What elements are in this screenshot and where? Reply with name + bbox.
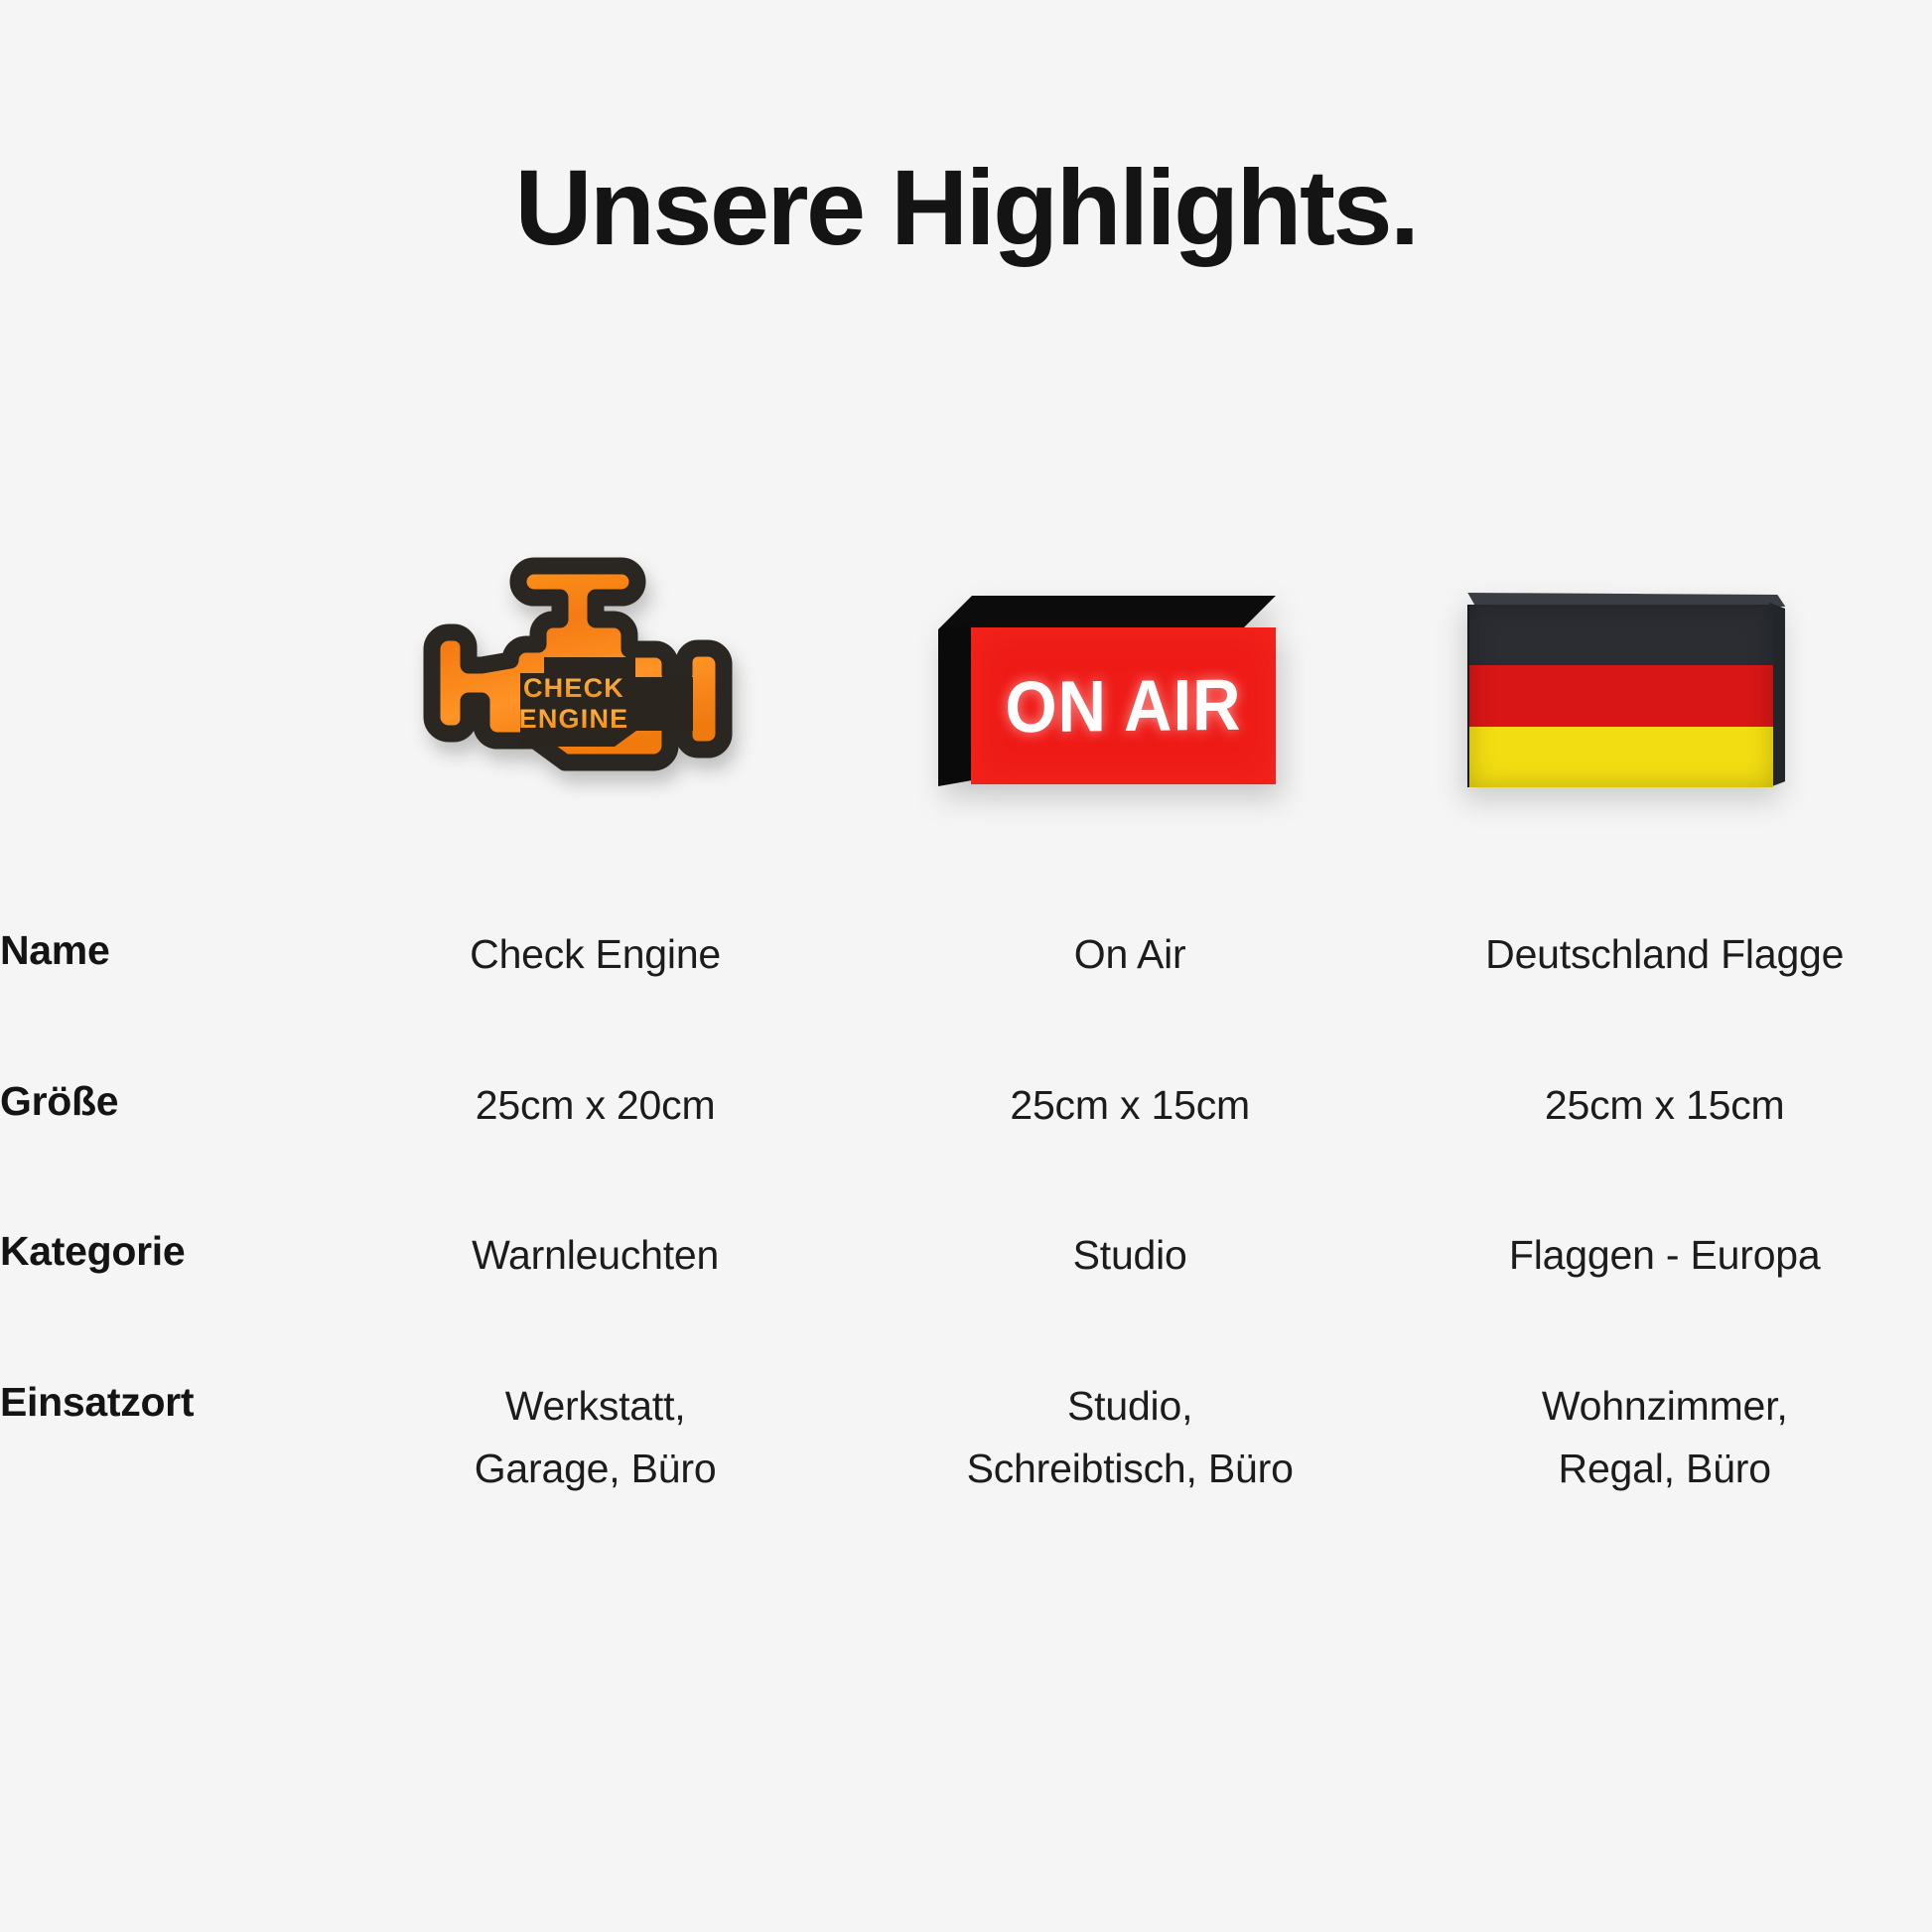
cell-einsatzort-deutschland-flagge: Wohnzimmer, Regal, Büro [1397,1375,1932,1501]
product-image-row: CHECK ENGINE ON AIR [328,526,1886,854]
table-row: Einsatzort Werkstatt, Garage, Büro Studi… [0,1375,1932,1501]
flag-front-face [1467,605,1773,787]
highlights-page: Unsere Highlights. [0,0,1932,1932]
table-row: Name Check Engine On Air Deutschland Fla… [0,923,1932,987]
cell-line: Deutschland Flagge [1397,923,1932,987]
row-label-einsatzort: Einsatzort [0,1375,328,1501]
table-row: Größe 25cm x 20cm 25cm x 15cm 25cm x 15c… [0,1074,1932,1138]
cell-line: Schreibtisch, Büro [863,1438,1398,1501]
table-row: Kategorie Warnleuchten Studio Flaggen - … [0,1224,1932,1288]
deutschland-flagge-lightbox [1438,566,1815,814]
cell-line: Regal, Büro [1397,1438,1932,1501]
row-spacer [0,987,1932,1074]
on-air-lightbox: ON AIR [918,566,1296,814]
row-spacer [0,1288,1932,1375]
cell-name-deutschland-flagge: Deutschland Flagge [1397,923,1932,987]
check-engine-icon: CHECK ENGINE [389,546,786,834]
cell-einsatzort-on-air: Studio, Schreibtisch, Büro [863,1375,1398,1501]
cell-line: Flaggen - Europa [1397,1224,1932,1288]
cell-line: 25cm x 15cm [1397,1074,1932,1138]
on-air-top-face [938,596,1276,629]
cell-name-check-engine: Check Engine [328,923,863,987]
svg-text:CHECK: CHECK [523,673,624,703]
flag-band-gold [1469,727,1773,787]
on-air-text: ON AIR [1005,668,1241,744]
product-image-deutschland-flagge[interactable] [1367,526,1886,854]
cell-line: Studio [863,1224,1398,1288]
cell-line: Werkstatt, [328,1375,863,1439]
cell-line: Studio, [863,1375,1398,1439]
cell-line: Wohnzimmer, [1397,1375,1932,1439]
cell-line: Check Engine [328,923,863,987]
cell-line: 25cm x 15cm [863,1074,1398,1138]
cell-groesse-deutschland-flagge: 25cm x 15cm [1397,1074,1932,1138]
cell-einsatzort-check-engine: Werkstatt, Garage, Büro [328,1375,863,1501]
flag-band-black [1469,605,1773,665]
row-label-name: Name [0,923,328,987]
cell-kategorie-deutschland-flagge: Flaggen - Europa [1397,1224,1932,1288]
spec-comparison-table: Name Check Engine On Air Deutschland Fla… [0,923,1932,1501]
product-image-on-air[interactable]: ON AIR [847,526,1366,854]
page-title: Unsere Highlights. [0,149,1932,267]
cell-line: On Air [863,923,1398,987]
row-spacer [0,1137,1932,1224]
on-air-front-face: ON AIR [971,627,1276,784]
cell-line: Garage, Büro [328,1438,863,1501]
cell-groesse-check-engine: 25cm x 20cm [328,1074,863,1138]
cell-kategorie-on-air: Studio [863,1224,1398,1288]
cell-groesse-on-air: 25cm x 15cm [863,1074,1398,1138]
flag-band-red [1469,665,1773,726]
cell-line: 25cm x 20cm [328,1074,863,1138]
on-air-side-face [938,625,974,786]
product-image-check-engine[interactable]: CHECK ENGINE [328,526,847,854]
cell-kategorie-check-engine: Warnleuchten [328,1224,863,1288]
svg-text:ENGINE: ENGINE [518,704,628,734]
cell-name-on-air: On Air [863,923,1398,987]
row-label-kategorie: Kategorie [0,1224,328,1288]
row-label-groesse: Größe [0,1074,328,1138]
cell-line: Warnleuchten [328,1224,863,1288]
